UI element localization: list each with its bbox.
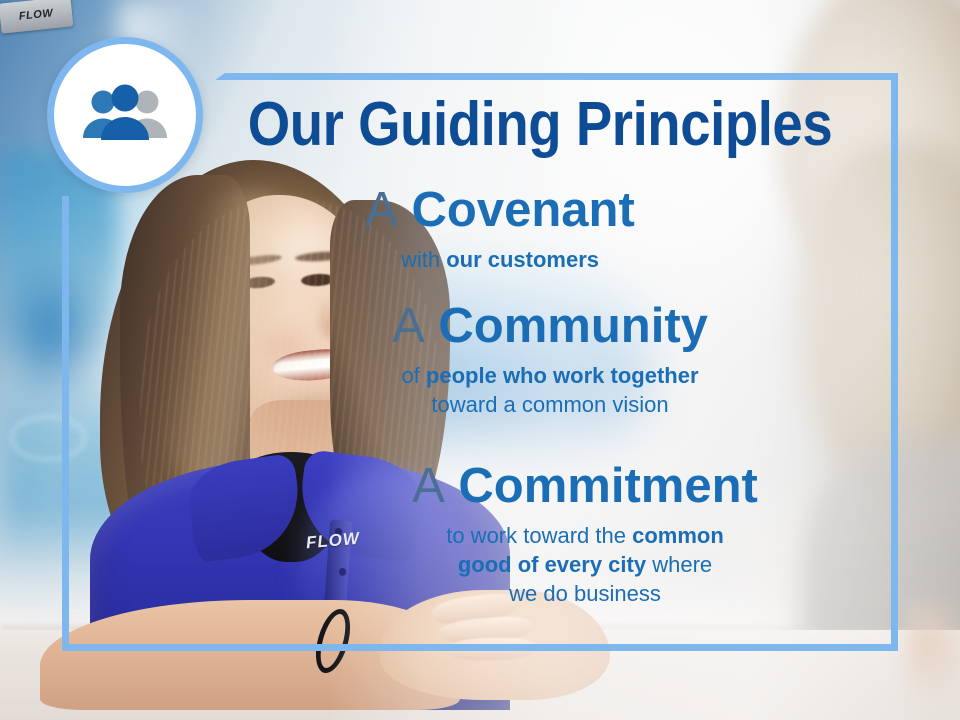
- group-of-people-icon: [79, 84, 171, 146]
- principle-covenant-article: A: [365, 183, 398, 237]
- principle-community-subtitle: of people who work together toward a com…: [250, 361, 850, 419]
- principle-commitment-sub-plain: to work toward the: [446, 523, 632, 548]
- principle-community-sub-plain: of: [401, 363, 425, 388]
- principle-community-title: A Community: [250, 302, 850, 352]
- principle-commitment-title: A Commitment: [290, 462, 880, 512]
- principle-covenant: A Covenant with our customers: [230, 186, 770, 274]
- promotional-banner: FLOW FLOW Our Guiding Principles A Coven…: [0, 0, 960, 720]
- principle-commitment: A Commitment to work toward the common g…: [290, 462, 880, 608]
- principle-commitment-keyword: Commitment: [458, 459, 757, 513]
- principle-commitment-subtitle: to work toward the common good of every …: [290, 521, 880, 608]
- principle-covenant-title: A Covenant: [230, 186, 770, 236]
- frame-border-top: [215, 73, 898, 80]
- principle-commitment-article: A: [412, 459, 445, 513]
- principle-community-article: A: [392, 299, 425, 353]
- group-of-people-icon-badge: [47, 37, 203, 193]
- principle-covenant-sub-bold: our customers: [446, 247, 599, 272]
- principle-commitment-line2-plain: where: [646, 552, 712, 577]
- frame-border-left: [62, 196, 69, 651]
- principle-commitment-sub-bold: common: [632, 523, 724, 548]
- principle-community-keyword: Community: [438, 299, 708, 353]
- principle-community-sub-line2: toward a common vision: [431, 392, 668, 417]
- principle-covenant-sub-plain: with: [401, 247, 446, 272]
- frame-border-right: [891, 73, 898, 651]
- principle-community: A Community of people who work together …: [250, 302, 850, 419]
- principle-commitment-line3: we do business: [509, 581, 661, 606]
- principle-covenant-keyword: Covenant: [412, 183, 635, 237]
- principle-commitment-line2-bold: good of every city: [458, 552, 646, 577]
- principle-covenant-subtitle: with our customers: [230, 245, 770, 274]
- frame-border-bottom: [62, 644, 898, 651]
- page-title: Our Guiding Principles: [241, 94, 839, 156]
- principle-community-sub-bold: people who work together: [426, 363, 699, 388]
